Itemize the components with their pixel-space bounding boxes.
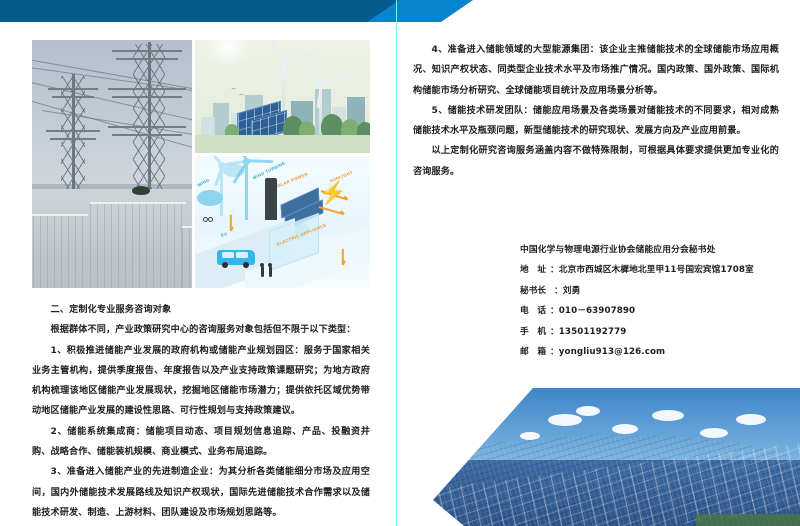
- person-head: [260, 263, 264, 267]
- tower-crossarm: [112, 134, 182, 137]
- contact-value-phone: ：010－63907890: [550, 301, 635, 321]
- storage-container-yard: [32, 189, 192, 288]
- tower-mast: [72, 74, 75, 194]
- right-closing-paragraph: 以上定制化研究咨询服务涵盖内容不做特殊限制，可根据具体要求提供更加专业化的咨询服…: [413, 141, 779, 182]
- left-item-2: 2、储能系统集成商：储能项目动态、项目规划信息追踪、产品、投融资并购、战略合作、…: [32, 422, 370, 463]
- tower-mast: [148, 42, 151, 194]
- bush: [132, 186, 150, 195]
- cloud-shape: [576, 406, 600, 416]
- contact-label-mobile: 手 机: [520, 322, 550, 342]
- transmission-tower-right: [118, 42, 180, 194]
- cloud-shape: [736, 414, 766, 425]
- tower-crossarm: [112, 96, 182, 99]
- label-solar-power: SOLAR POWER: [273, 171, 308, 189]
- transmission-tower-left: [50, 74, 96, 194]
- turbine-tower: [245, 158, 248, 220]
- contact-organization: 中国化学与物理电源行业协会储能应用分会秘书处: [520, 240, 779, 260]
- storage-container: [182, 226, 192, 288]
- illustration-green-city: [195, 40, 370, 153]
- left-column: WIND WIND TURBINE SOLAR POWER SUNLIGHT: [32, 40, 384, 523]
- left-item-3: 3、准备进入储能产业的先进制造企业：为其分析各类储能细分市场及应用空间，国内外储…: [32, 462, 370, 523]
- cloud-shape: [612, 424, 638, 434]
- brochure-page: WIND WIND TURBINE SOLAR POWER SUNLIGHT: [0, 0, 800, 526]
- media-block: WIND WIND TURBINE SOLAR POWER SUNLIGHT: [32, 40, 370, 288]
- pedestrian-icon: [261, 266, 264, 277]
- pedestrian-icon: [269, 266, 272, 277]
- section-heading: 二、定制化专业服务咨询对象: [32, 300, 370, 320]
- cloud-shape: [452, 402, 482, 413]
- car-window: [222, 252, 234, 258]
- label-ev: EV: [220, 231, 228, 238]
- contact-row-email: 邮 箱 ：yongliu913@126.com: [520, 342, 779, 362]
- turbine-blade: [234, 156, 248, 162]
- cloud-shape: [548, 414, 582, 426]
- contact-value-email: ：yongliu913@126.com: [550, 342, 665, 362]
- building: [201, 117, 215, 137]
- car-wheel: [243, 262, 249, 268]
- turbine-blade: [321, 74, 344, 85]
- contact-label-phone: 电 话: [520, 301, 550, 321]
- left-item-1: 1、积极推进储能产业发展的政府机构或储能产业规划园区：服务于国家相关业务主管机构…: [32, 341, 370, 422]
- tower-crossarm: [108, 126, 186, 129]
- person-head: [268, 263, 272, 267]
- bird-icon: [239, 94, 244, 97]
- storage-container: [90, 202, 186, 288]
- energy-flow-arrow: [230, 215, 232, 231]
- illustration-stack: WIND WIND TURBINE SOLAR POWER SUNLIGHT: [195, 40, 370, 288]
- tower-crossarm: [46, 130, 100, 133]
- column-divider-line: [396, 0, 397, 526]
- tower-crossarm: [112, 50, 182, 53]
- cloud-shape: [700, 428, 728, 438]
- tower-crossarm: [116, 58, 178, 61]
- sun-glow-icon: [207, 40, 249, 68]
- header-banner-dark: [0, 0, 400, 22]
- photo-transmission-towers: [32, 40, 192, 288]
- contact-label-address: 地 址: [520, 260, 550, 280]
- wind-turbine-large: [237, 158, 255, 220]
- tower-crossarm: [52, 96, 94, 99]
- contact-row-mobile: 手 机 ：13501192779: [520, 322, 779, 342]
- car-wheel: [222, 262, 228, 268]
- contact-label-email: 邮 箱: [520, 342, 550, 362]
- right-item-5: 5、储能技术研发团队：储能应用场景及各类场景对储能技术的不同要求，相对成熟储能技…: [413, 101, 779, 142]
- turbine-blade: [247, 160, 273, 163]
- right-column: 4、准备进入储能领域的大型能源集团：该企业主推储能技术的全球储能市场应用概况、知…: [413, 40, 779, 363]
- contact-row-secretary: 秘书长 ：刘勇: [520, 281, 779, 301]
- energy-flow-arrow: [342, 249, 344, 265]
- contact-value-mobile: ：13501192779: [550, 322, 626, 342]
- storage-container: [32, 214, 88, 288]
- contact-row-address: 地 址 ：北京市西城区木樨地北里甲11号国宏宾馆1708室: [520, 260, 779, 280]
- turbine-blade: [303, 67, 323, 85]
- turbine-blade: [207, 156, 223, 166]
- turbine-blade: [264, 40, 286, 59]
- electric-vehicle: [217, 250, 255, 265]
- tower-crossarm: [48, 88, 98, 91]
- bicycle-wheel: [208, 217, 213, 222]
- grass-strip: [696, 514, 800, 526]
- tower-crossarm: [50, 138, 96, 141]
- contact-value-secretary: ：刘勇: [554, 281, 580, 301]
- energy-storage-tower: [265, 178, 277, 220]
- left-column-text: 二、定制化专业服务咨询对象 根据群体不同，产业政策研究中心的咨询服务对象包括但不…: [32, 300, 384, 523]
- tower-crossarm: [108, 88, 186, 91]
- cyclist-icon: [203, 214, 213, 222]
- contact-row-phone: 电 话 ：010－63907890: [520, 301, 779, 321]
- label-wind: WIND: [197, 177, 211, 187]
- left-intro-paragraph: 根据群体不同，产业政策研究中心的咨询服务对象包括但不限于以下类型：: [32, 320, 370, 340]
- turbine-blade: [284, 52, 318, 59]
- wind-turbine-small: [213, 162, 229, 216]
- illustration-blue-energy: WIND WIND TURBINE SOLAR POWER SUNLIGHT: [195, 156, 370, 288]
- contact-block: 中国化学与物理电源行业协会储能应用分会秘书处 地 址 ：北京市西城区木樨地北里甲…: [413, 240, 779, 362]
- photo-solar-farm: [400, 388, 800, 526]
- ground-strip: [195, 135, 370, 153]
- contact-value-address: ：北京市西城区木樨地北里甲11号国宏宾馆1708室: [550, 260, 754, 280]
- cloud-shape: [652, 410, 684, 421]
- car-window: [236, 252, 248, 258]
- cloud-shape: [470, 396, 492, 406]
- right-item-4: 4、准备进入储能领域的大型能源集团：该企业主推储能技术的全球储能市场应用概况、知…: [413, 40, 779, 101]
- bird-icon: [231, 88, 236, 91]
- contact-label-secretary: 秘书长: [520, 281, 554, 301]
